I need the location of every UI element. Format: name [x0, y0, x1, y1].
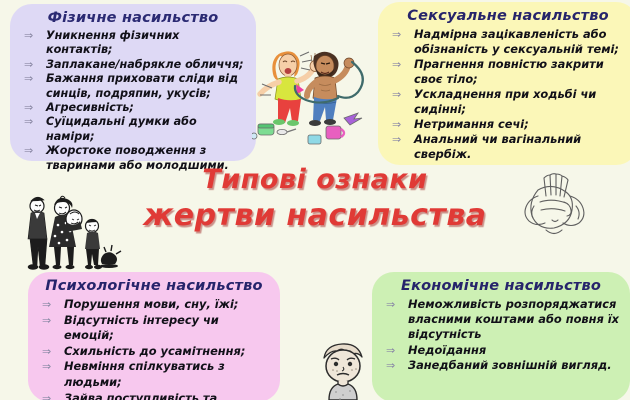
list-item: ⇒ Зайва поступливість та обережність.: [38, 391, 270, 400]
list-item-text: Жорстоке поводження з тваринами або моло…: [46, 144, 229, 171]
arrow-bullet-icon: ⇒: [392, 57, 401, 72]
list-item: ⇒ Уникнення фізичних контактів;: [20, 29, 246, 58]
arrow-bullet-icon: ⇒: [42, 391, 51, 400]
list-item-text: Надмірна зацікавленість або обізнаність …: [414, 27, 619, 56]
card-title-sexual: Сексуальне насильство: [388, 8, 628, 24]
arrow-bullet-icon: ⇒: [392, 117, 401, 132]
list-item: ⇒ Надмірна зацікавленість або обізнаніст…: [388, 27, 628, 57]
poster-canvas: Фізичне насильство ⇒ Уникнення фізичних …: [0, 0, 630, 400]
arrow-bullet-icon: ⇒: [24, 115, 33, 129]
card-title-psychological: Психологічне насильство: [38, 278, 270, 294]
list-item-text: Прагнення повністю закрити своє тіло;: [414, 57, 604, 86]
list-item-text: Нетримання сечі;: [414, 117, 529, 131]
arrow-bullet-icon: ⇒: [42, 344, 51, 360]
arrow-bullet-icon: ⇒: [42, 359, 51, 375]
list-item-text: Відсутність інтересу чи емоцій;: [64, 313, 219, 343]
list-item-text: Неможливість розпоряджатися власними кош…: [408, 297, 619, 341]
list-item-text: Схильність до усамітнення;: [64, 344, 245, 358]
list-item: ⇒ Нетримання сечі;: [388, 117, 628, 132]
card-list-sexual: ⇒ Надмірна зацікавленість або обізнаніст…: [388, 27, 628, 162]
list-item: ⇒ Порушення мови, сну, їжі;: [38, 297, 270, 313]
list-item: ⇒ Прагнення повністю закрити своє тіло;: [388, 57, 628, 87]
arrow-bullet-icon: ⇒: [392, 132, 401, 147]
list-item-text: Бажання приховати сліди від синців, подр…: [46, 72, 238, 99]
list-item: ⇒ Заплакане/набрякле обличчя;: [20, 58, 246, 72]
man-beating-woman-illustration: [252, 32, 380, 158]
list-item-text: Суїцидальні думки або наміри;: [46, 115, 197, 142]
arrow-bullet-icon: ⇒: [386, 343, 395, 358]
sad-boy-illustration: [312, 340, 374, 400]
card-physical-violence: Фізичне насильство ⇒ Уникнення фізичних …: [10, 4, 256, 161]
list-item: ⇒ Ускладнення при ходьбі чи сидінні;: [388, 87, 628, 117]
list-item: ⇒ Суїцидальні думки або наміри;: [20, 115, 246, 144]
arrow-bullet-icon: ⇒: [24, 144, 33, 158]
list-item-text: Уникнення фізичних контактів;: [46, 29, 179, 56]
family-silhouette-illustration: [10, 192, 122, 276]
list-item: ⇒ Невміння спілкуватись з людьми;: [38, 359, 270, 390]
arrow-bullet-icon: ⇒: [392, 87, 401, 102]
list-item: ⇒ Жорстоке поводження з тваринами або мо…: [20, 144, 246, 173]
hands-covering-face-illustration: [508, 172, 600, 254]
arrow-bullet-icon: ⇒: [24, 58, 33, 72]
list-item: ⇒ Недоїдання: [382, 343, 620, 358]
arrow-bullet-icon: ⇒: [386, 297, 395, 312]
arrow-bullet-icon: ⇒: [42, 313, 51, 329]
list-item-text: Анальний чи вагінальний свербіж.: [414, 132, 581, 161]
card-list-economic: ⇒ Неможливість розпоряджатися власними к…: [382, 297, 620, 373]
list-item-text: Порушення мови, сну, їжі;: [64, 297, 238, 311]
card-psychological-violence: Психологічне насильство ⇒ Порушення мови…: [28, 272, 280, 400]
list-item-text: Ускладнення при ходьбі чи сидінні;: [414, 87, 596, 116]
card-title-physical: Фізичне насильство: [20, 10, 246, 26]
list-item-text: Зайва поступливість та обережність.: [64, 391, 217, 400]
card-economic-violence: Економічне насильство ⇒ Неможливість роз…: [372, 272, 630, 400]
card-sexual-violence: Сексуальне насильство ⇒ Надмірна зацікав…: [378, 2, 630, 165]
list-item: ⇒ Схильність до усамітнення;: [38, 344, 270, 360]
list-item-text: Занедбаний зовнішній вигляд.: [408, 358, 612, 372]
list-item-text: Заплакане/набрякле обличчя;: [46, 58, 244, 71]
list-item: ⇒ Занедбаний зовнішній вигляд.: [382, 358, 620, 373]
arrow-bullet-icon: ⇒: [386, 358, 395, 373]
list-item-text: Агресивність;: [46, 101, 134, 114]
arrow-bullet-icon: ⇒: [392, 27, 401, 42]
arrow-bullet-icon: ⇒: [24, 29, 33, 43]
list-item: ⇒ Бажання приховати сліди від синців, по…: [20, 72, 246, 101]
arrow-bullet-icon: ⇒: [42, 297, 51, 313]
card-title-economic: Економічне насильство: [382, 278, 620, 294]
list-item: ⇒ Неможливість розпоряджатися власними к…: [382, 297, 620, 343]
list-item-text: Недоїдання: [408, 343, 486, 357]
list-item-text: Невміння спілкуватись з людьми;: [64, 359, 225, 389]
arrow-bullet-icon: ⇒: [24, 101, 33, 115]
card-list-physical: ⇒ Уникнення фізичних контактів; ⇒ Заплак…: [20, 29, 246, 173]
list-item: ⇒ Агресивність;: [20, 101, 246, 115]
card-list-psychological: ⇒ Порушення мови, сну, їжі; ⇒ Відсутніст…: [38, 297, 270, 400]
list-item: ⇒ Анальний чи вагінальний свербіж.: [388, 132, 628, 162]
arrow-bullet-icon: ⇒: [24, 72, 33, 86]
list-item: ⇒ Відсутність інтересу чи емоцій;: [38, 313, 270, 344]
